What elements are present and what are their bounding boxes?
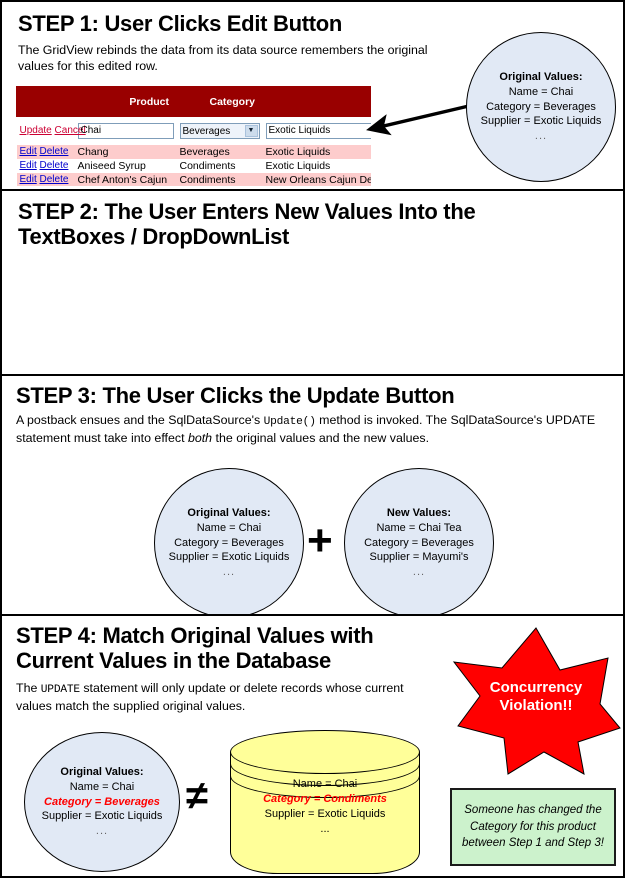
bubble-ellipsis: ... [364, 565, 474, 580]
star-label: Concurrency Violation!! [490, 679, 583, 715]
db-line-category-highlight: Category = Condiments [230, 792, 420, 807]
step-1-panel: STEP 1: User Clicks Edit Button The Grid… [2, 2, 623, 189]
bubble-heading: Original Values: [42, 765, 163, 780]
bubble-line-supplier: Supplier = Mayumi's [364, 550, 474, 565]
cell-product: Chang [75, 145, 177, 159]
db-ellipsis: ... [230, 822, 420, 837]
bubble-line-supplier: Supplier = Exotic Liquids [169, 550, 290, 565]
supplier-edit-cell: Exotic Liquids [263, 117, 372, 145]
callout-line-3: between Step 1 and Step 3! [462, 835, 604, 852]
bubble-line-supplier: Supplier = Exotic Liquids [42, 809, 163, 824]
bubble-heading: Original Values: [481, 70, 602, 85]
step-3-description: A postback ensues and the SqlDataSource'… [16, 412, 616, 446]
step-3-desc-part-c: the original values and the new values. [212, 431, 429, 445]
bubble-line-name: Name = Chai [481, 85, 602, 100]
cell-product: Chef Anton's Cajun [75, 173, 177, 187]
category-dropdownlist-value: Beverages [183, 126, 231, 137]
delete-link[interactable]: Delete [40, 160, 69, 171]
bubble-ellipsis: ... [169, 565, 290, 580]
table-row: Edit Delete Chang Beverages Exotic Liqui… [17, 145, 372, 159]
table-row: Edit Delete Chef Anton's Cajun Condiment… [17, 173, 372, 187]
supplier-textbox[interactable]: Exotic Liquids [266, 123, 372, 139]
step-4-description: The UPDATE statement will only update or… [16, 680, 436, 714]
bubble-ellipsis: ... [42, 824, 163, 839]
cell-product: Aniseed Syrup [75, 159, 177, 173]
star-line-1: Concurrency [490, 679, 583, 697]
step-4-desc-code-update: UPDATE [41, 684, 80, 696]
step-3-title: STEP 3: The User Clicks the Update Butto… [16, 384, 516, 409]
step-1-description: The GridView rebinds the data from its d… [18, 42, 430, 75]
step-1-original-values-bubble: Original Values: Name = Chai Category = … [466, 32, 616, 182]
step-1-gridview: Product Category Supplier Update Cancel … [16, 86, 371, 186]
cell-category: Condiments [177, 159, 263, 173]
step-3-desc-part-a: A postback ensues and the SqlDataSource'… [16, 413, 264, 427]
category-edit-cell: Beverages ▼ [177, 117, 263, 145]
cell-supplier: Exotic Liquids [263, 145, 372, 159]
bubble-line-category: Category = Beverages [481, 100, 602, 115]
row-commands: Edit Delete [17, 159, 75, 173]
step-1-title: STEP 1: User Clicks Edit Button [18, 12, 458, 37]
edit-row-commands: Update Cancel [17, 117, 75, 145]
product-textbox[interactable]: Chai [78, 123, 174, 139]
cylinder-top [230, 730, 420, 774]
edit-link[interactable]: Edit [20, 146, 37, 157]
step-4-callout: Someone has changed the Category for thi… [450, 788, 616, 866]
table-row-edit: Update Cancel Chai Beverages ▼ [17, 117, 372, 145]
star-line-2: Violation!! [490, 697, 583, 715]
diagram-root: STEP 1: User Clicks Edit Button The Grid… [0, 0, 625, 878]
concurrency-violation-star: Concurrency Violation!! [450, 624, 622, 776]
step-2-panel: STEP 2: The User Enters New Values Into … [2, 191, 623, 374]
category-dropdownlist[interactable]: Beverages ▼ [180, 123, 260, 139]
step-4-panel: STEP 4: Match Original Values with Curre… [2, 616, 623, 876]
database-values: Name = Chai Category = Condiments Suppli… [230, 777, 420, 836]
cell-supplier: Exotic Liquids [263, 159, 372, 173]
cell-category: Condiments [177, 173, 263, 187]
bubble-ellipsis: ... [481, 129, 602, 144]
column-header-supplier: Supplier [263, 87, 372, 117]
bubble-heading: Original Values: [169, 506, 290, 521]
row-commands: Edit Delete [17, 173, 75, 187]
delete-link[interactable]: Delete [40, 146, 69, 157]
db-line-supplier: Supplier = Exotic Liquids [230, 807, 420, 822]
step-3-original-values-bubble: Original Values: Name = Chai Category = … [154, 468, 304, 614]
step-4-title: STEP 4: Match Original Values with Curre… [16, 624, 436, 673]
column-header-category: Category [177, 87, 263, 117]
product-edit-cell: Chai [75, 117, 177, 145]
step-3-panel: STEP 3: The User Clicks the Update Butto… [2, 376, 623, 614]
step-3-new-values-bubble: New Values: Name = Chai Tea Category = B… [344, 468, 494, 614]
bubble-line-name: Name = Chai Tea [364, 521, 474, 536]
db-line-name: Name = Chai [230, 777, 420, 792]
plus-operator: + [307, 519, 333, 563]
bubble-line-name: Name = Chai [169, 521, 290, 536]
callout-line-1: Someone has changed the [462, 802, 604, 819]
update-link[interactable]: Update [20, 125, 52, 136]
row-commands: Edit Delete [17, 145, 75, 159]
column-header-product: Product [75, 87, 177, 117]
callout-line-2: Category for this product [462, 819, 604, 836]
database-cylinder: Name = Chai Category = Condiments Suppli… [230, 730, 420, 874]
bubble-heading: New Values: [364, 506, 474, 521]
cell-category: Beverages [177, 145, 263, 159]
edit-link[interactable]: Edit [20, 174, 37, 185]
step-2-title: STEP 2: The User Enters New Values Into … [18, 200, 498, 249]
bubble-line-category: Category = Beverages [364, 536, 474, 551]
delete-link[interactable]: Delete [40, 174, 69, 185]
bubble-line-category: Category = Beverages [169, 536, 290, 551]
chevron-down-icon: ▼ [245, 125, 258, 137]
column-header-commands [17, 87, 75, 117]
step-4-desc-part-a: The [16, 681, 41, 695]
step-3-desc-code-update: Update() [264, 416, 316, 428]
bubble-line-category-highlight: Category = Beverages [42, 795, 163, 810]
edit-link[interactable]: Edit [20, 160, 37, 171]
cell-supplier: New Orleans Cajun Delights [263, 173, 372, 187]
table-header-row: Product Category Supplier [17, 87, 372, 117]
step-4-original-values-bubble: Original Values: Name = Chai Category = … [24, 732, 180, 872]
table-row: Edit Delete Aniseed Syrup Condiments Exo… [17, 159, 372, 173]
bubble-line-name: Name = Chai [42, 780, 163, 795]
not-equal-operator: ≠ [186, 776, 208, 816]
bubble-line-supplier: Supplier = Exotic Liquids [481, 114, 602, 129]
step-3-desc-emphasis: both [188, 431, 212, 445]
